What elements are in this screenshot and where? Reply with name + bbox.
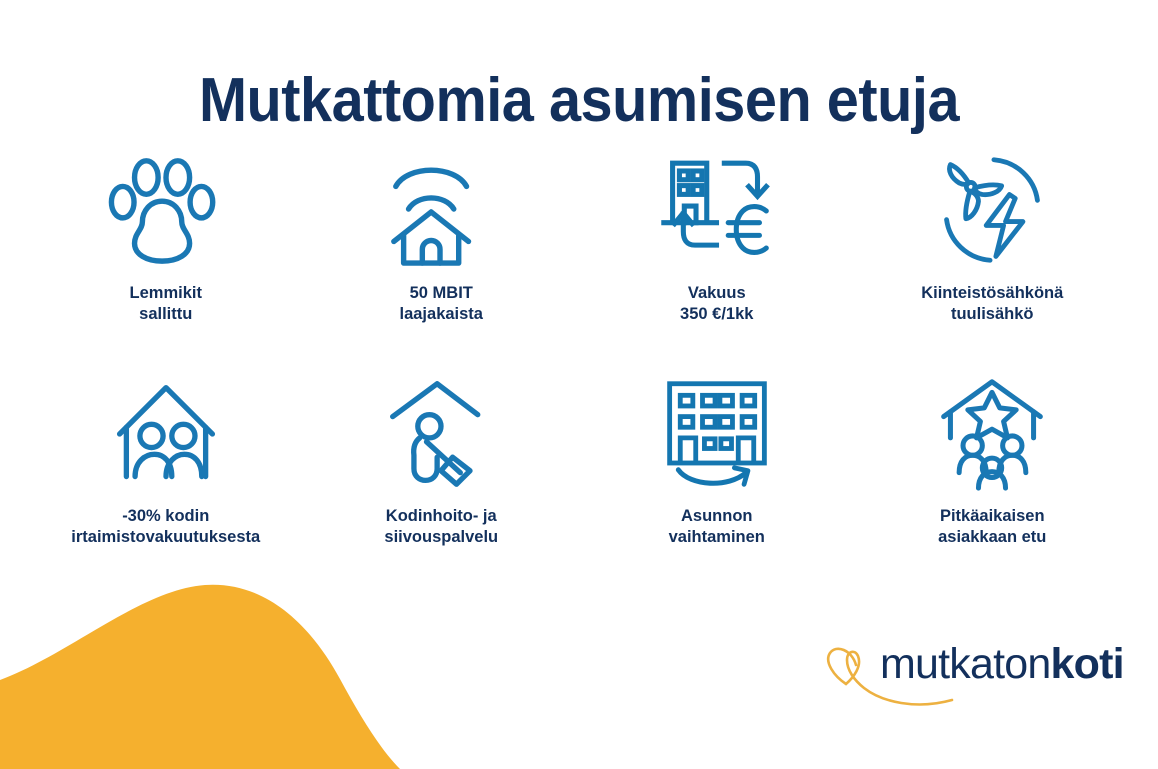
benefit-item-deposit: Vakuus 350 €/1kk (579, 145, 855, 360)
benefit-item-broadband: 50 MBIT laajakaista (304, 145, 580, 360)
building-euro-exchange-icon (656, 145, 778, 275)
apartment-swap-icon (659, 370, 775, 498)
benefit-label: Pitkäaikaisen asiakkaan etu (938, 506, 1046, 548)
house-family-icon (108, 370, 224, 498)
benefit-item-pets: Lemmikit sallittu (28, 145, 304, 360)
orange-decorative-blob (0, 584, 420, 769)
benefits-grid: Lemmikit sallittu 50 MBIT laajakaista (28, 145, 1130, 585)
page-title: Mutkattomia asumisen etuja (41, 68, 1118, 133)
wind-turbine-lightning-icon (934, 145, 1050, 275)
wifi-house-icon (382, 145, 500, 275)
person-mop-roof-icon (383, 370, 499, 498)
brand-logo: mutkatonkoti (812, 622, 1132, 727)
roof-star-people-icon (934, 370, 1050, 498)
brand-word-koti: koti (1050, 640, 1123, 688)
brand-wordmark: mutkatonkoti (880, 640, 1124, 689)
benefit-item-home-insurance: -30% kodin irtaimistovakuutuksesta (28, 370, 304, 585)
benefit-label: -30% kodin irtaimistovakuutuksesta (71, 506, 260, 548)
benefit-label: Kodinhoito- ja siivouspalvelu (384, 506, 498, 548)
benefit-item-loyalty: Pitkäaikaisen asiakkaan etu (855, 370, 1131, 585)
benefit-label: Lemmikit sallittu (130, 283, 202, 325)
benefit-label: Vakuus 350 €/1kk (680, 283, 753, 325)
benefit-label: 50 MBIT laajakaista (400, 283, 483, 325)
benefit-item-apartment-swap: Asunnon vaihtaminen (579, 370, 855, 585)
brand-word-mutkaton: mutkaton (880, 640, 1050, 688)
benefit-label: Asunnon vaihtaminen (669, 506, 765, 548)
benefit-label: Kiinteistösähkönä tuulisähkö (921, 283, 1063, 325)
benefit-item-cleaning-service: Kodinhoito- ja siivouspalvelu (304, 370, 580, 585)
benefit-item-wind-electricity: Kiinteistösähkönä tuulisähkö (855, 145, 1131, 360)
paw-print-icon (107, 145, 225, 275)
